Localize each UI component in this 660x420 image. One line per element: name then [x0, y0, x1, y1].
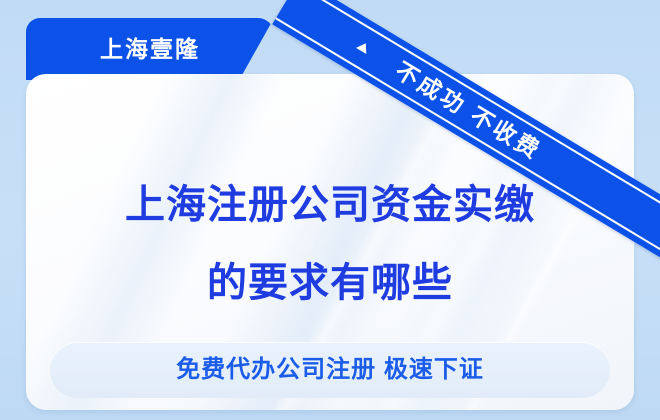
triangle-up-icon [356, 40, 371, 54]
poster-canvas: 上海壹隆 上海注册公司资金实缴 的要求有哪些 免费代办公司注册 极速下证 不成功… [0, 0, 660, 420]
brand-tab[interactable]: 上海壹隆 [26, 18, 274, 80]
headline-line-2: 的要求有哪些 [26, 244, 634, 322]
cta-pill[interactable]: 免费代办公司注册 极速下证 [50, 342, 610, 398]
brand-tab-label: 上海壹隆 [43, 38, 257, 61]
headline: 上海注册公司资金实缴 的要求有哪些 [26, 166, 634, 322]
brand-tab-inner: 上海壹隆 [43, 38, 257, 61]
cta-pill-label: 免费代办公司注册 极速下证 [176, 358, 484, 382]
